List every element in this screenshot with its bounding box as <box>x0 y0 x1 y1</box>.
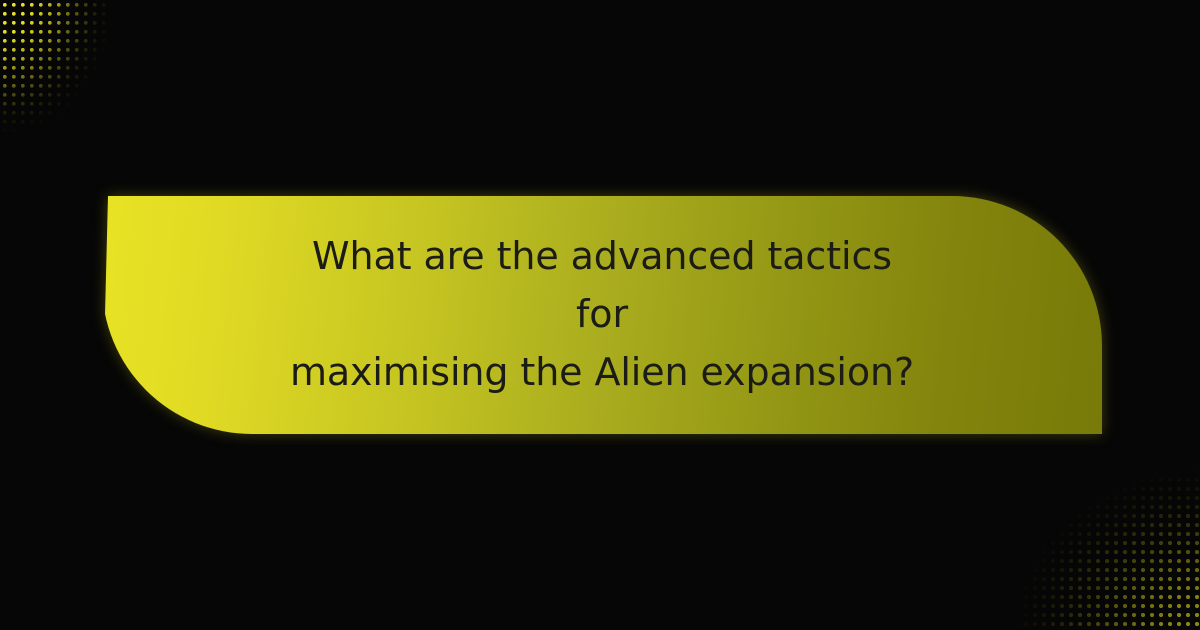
question-banner-glow: What are the advanced tactics for maximi… <box>96 190 1108 440</box>
poster-canvas: What are the advanced tactics for maximi… <box>0 0 1200 630</box>
question-banner: What are the advanced tactics for maximi… <box>102 196 1102 434</box>
question-text: What are the advanced tactics for maximi… <box>282 228 922 401</box>
